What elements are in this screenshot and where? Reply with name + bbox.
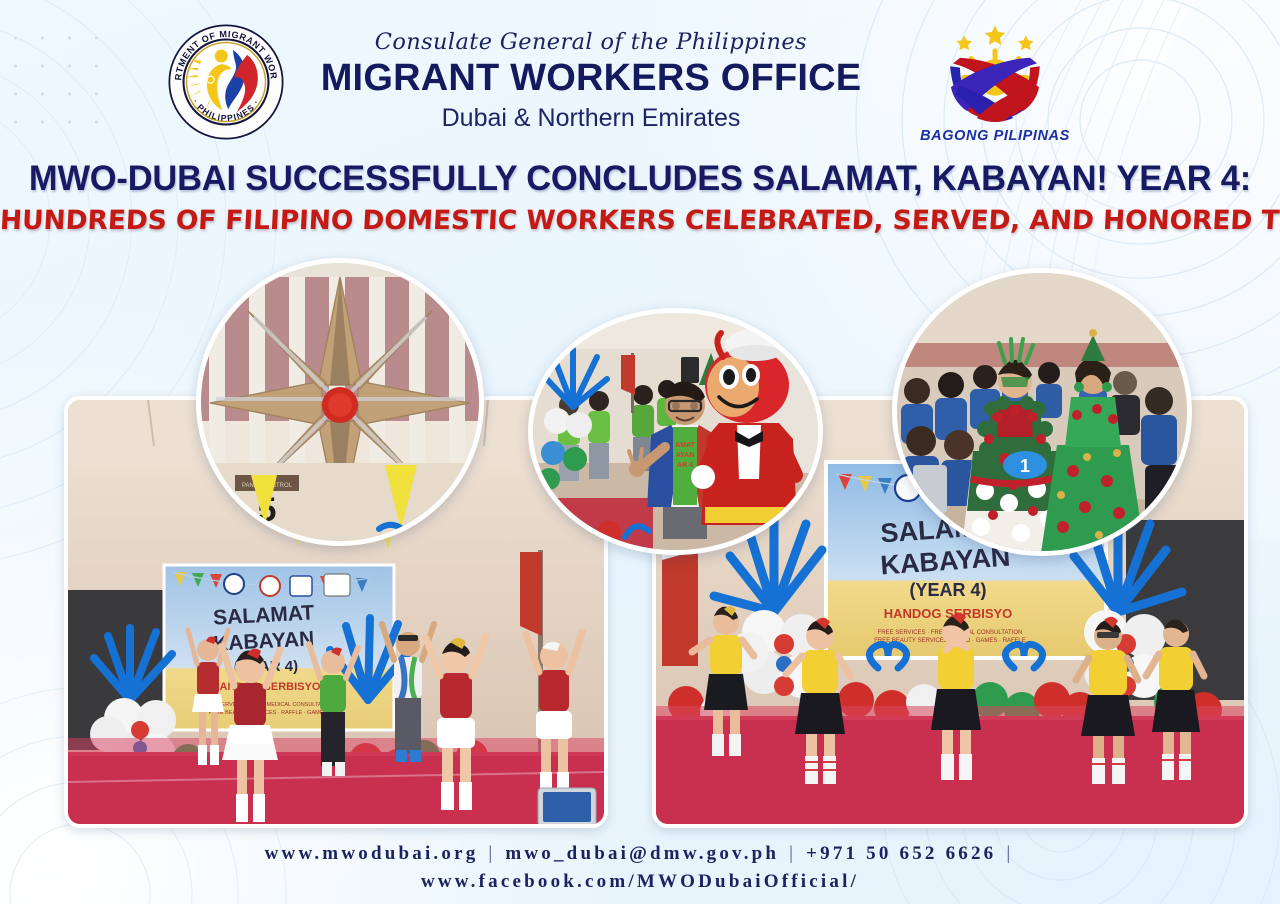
photo-guest-with-mascot: AMATAYANAR 4 <box>528 308 823 555</box>
footer-separator-2: | <box>787 843 798 864</box>
svg-text:FREE BEAUTY SERVICES · RAFFLE: FREE BEAUTY SERVICES · RAFFLE · GAMES <box>209 710 327 716</box>
consulate-script-line: Consulate General of the Philippines <box>375 31 807 55</box>
svg-text:AYAN: AYAN <box>676 452 695 459</box>
svg-text:1: 1 <box>1020 456 1030 476</box>
svg-text:AR 4: AR 4 <box>677 462 693 469</box>
footer-separator-3: | <box>1004 843 1015 864</box>
footer-line-primary: www.mwodubai.org | mwo_dubai@dmw.gov.ph … <box>0 840 1280 868</box>
footer-facebook[interactable]: www.facebook.com/MWODubaiOfficial/ <box>421 871 859 892</box>
svg-text:AMAT: AMAT <box>675 442 695 449</box>
footer-website[interactable]: www.mwodubai.org <box>265 843 479 864</box>
footer-contact-block: www.mwodubai.org | mwo_dubai@dmw.gov.ph … <box>0 840 1280 895</box>
svg-text:(YEAR 4): (YEAR 4) <box>909 580 986 600</box>
svg-text:HANDOG SERBISYO: HANDOG SERBISYO <box>884 606 1013 621</box>
footer-separator-1: | <box>486 843 497 864</box>
headline-block: MWO-DUBAI SUCCESSFULLY CONCLUDES SALAMAT… <box>0 160 1280 235</box>
bagong-pilipinas-logo: BAGONG PILIPINAS <box>915 17 1075 147</box>
photo-christmas-tree-costume-contestants: 1 <box>892 268 1192 556</box>
poster-header: DEPARTMENT OF MIGRANT WORKERS · PHILIPPI… <box>0 12 1280 152</box>
footer-email[interactable]: mwo_dubai@dmw.gov.ph <box>505 843 779 864</box>
header-text-block: Consulate General of the Philippines MIG… <box>285 31 897 133</box>
bagong-pilipinas-wordmark: BAGONG PILIPINAS <box>920 128 1070 144</box>
footer-line-secondary: www.facebook.com/MWODubaiOfficial/ <box>0 868 1280 896</box>
headline-secondary: HUNDREDS OF FILIPINO DOMESTIC WORKERS CE… <box>0 206 1280 235</box>
office-subtitle: Dubai & Northern Emirates <box>442 105 741 133</box>
poster-canvas: DEPARTMENT OF MIGRANT WORKERS · PHILIPPI… <box>0 0 1280 904</box>
headline-primary: MWO-DUBAI SUCCESSFULLY CONCLUDES SALAMAT… <box>10 160 1271 199</box>
photo-parol-star-lantern: PANEL CONTROL 5 <box>196 258 484 546</box>
office-title: MIGRANT WORKERS OFFICE <box>321 59 862 99</box>
footer-phone[interactable]: +971 50 652 6626 <box>806 843 996 864</box>
dmw-seal-icon: DEPARTMENT OF MIGRANT WORKERS · PHILIPPI… <box>167 23 285 141</box>
